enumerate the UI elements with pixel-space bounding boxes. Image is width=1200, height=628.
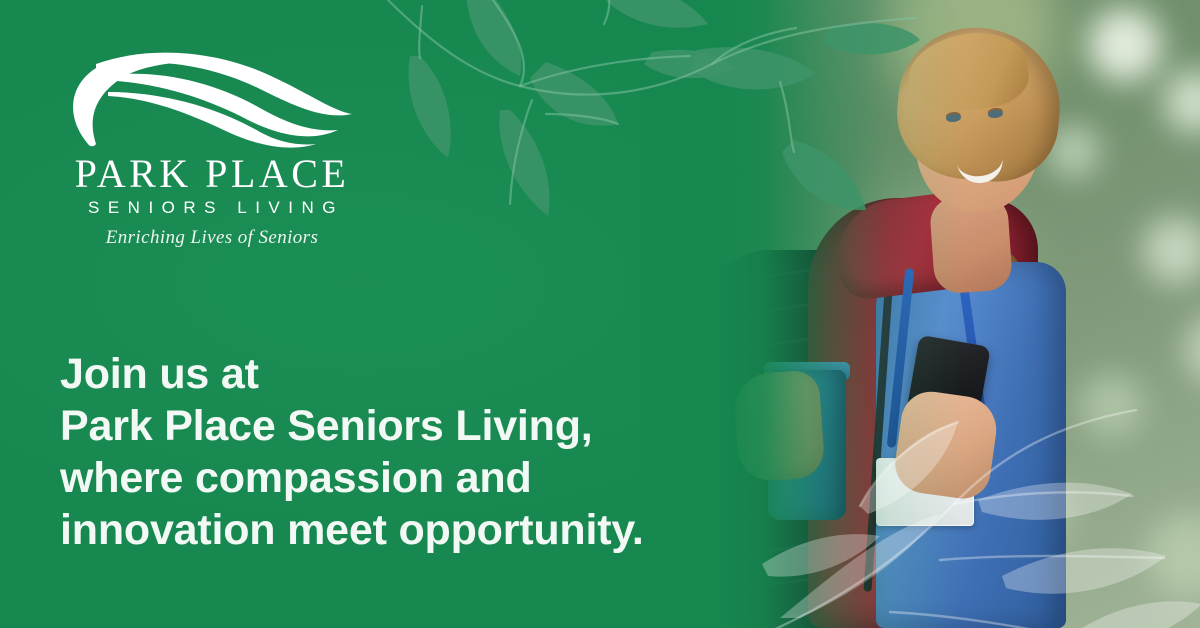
logo-seniors-living-text: SENIORS LIVING: [62, 198, 362, 218]
person-healthcare-worker: [640, 0, 1200, 628]
headline-line-3: where compassion and: [60, 452, 644, 504]
hero-photo: [640, 0, 1200, 628]
logo-tagline-text: Enriching Lives of Seniors: [62, 227, 362, 249]
leaf-swoosh-mark-icon: [62, 48, 358, 152]
brand-logo[interactable]: PARK PLACE SENIORS LIVING Enriching Live…: [62, 48, 374, 249]
hand-holding-phone: [891, 388, 1000, 502]
headline-line-1: Join us at: [60, 348, 644, 400]
headline: Join us at Park Place Seniors Living, wh…: [60, 348, 644, 556]
logo-wordmark: PARK PLACE SENIORS LIVING Enriching Live…: [62, 154, 362, 249]
logo-park-place-text: PARK PLACE: [62, 154, 362, 195]
hand-holding-tumbler: [732, 369, 825, 483]
recruitment-banner: PARK PLACE SENIORS LIVING Enriching Live…: [0, 0, 1200, 628]
headline-line-4: innovation meet opportunity.: [60, 504, 644, 556]
headline-line-2: Park Place Seniors Living,: [60, 400, 644, 452]
